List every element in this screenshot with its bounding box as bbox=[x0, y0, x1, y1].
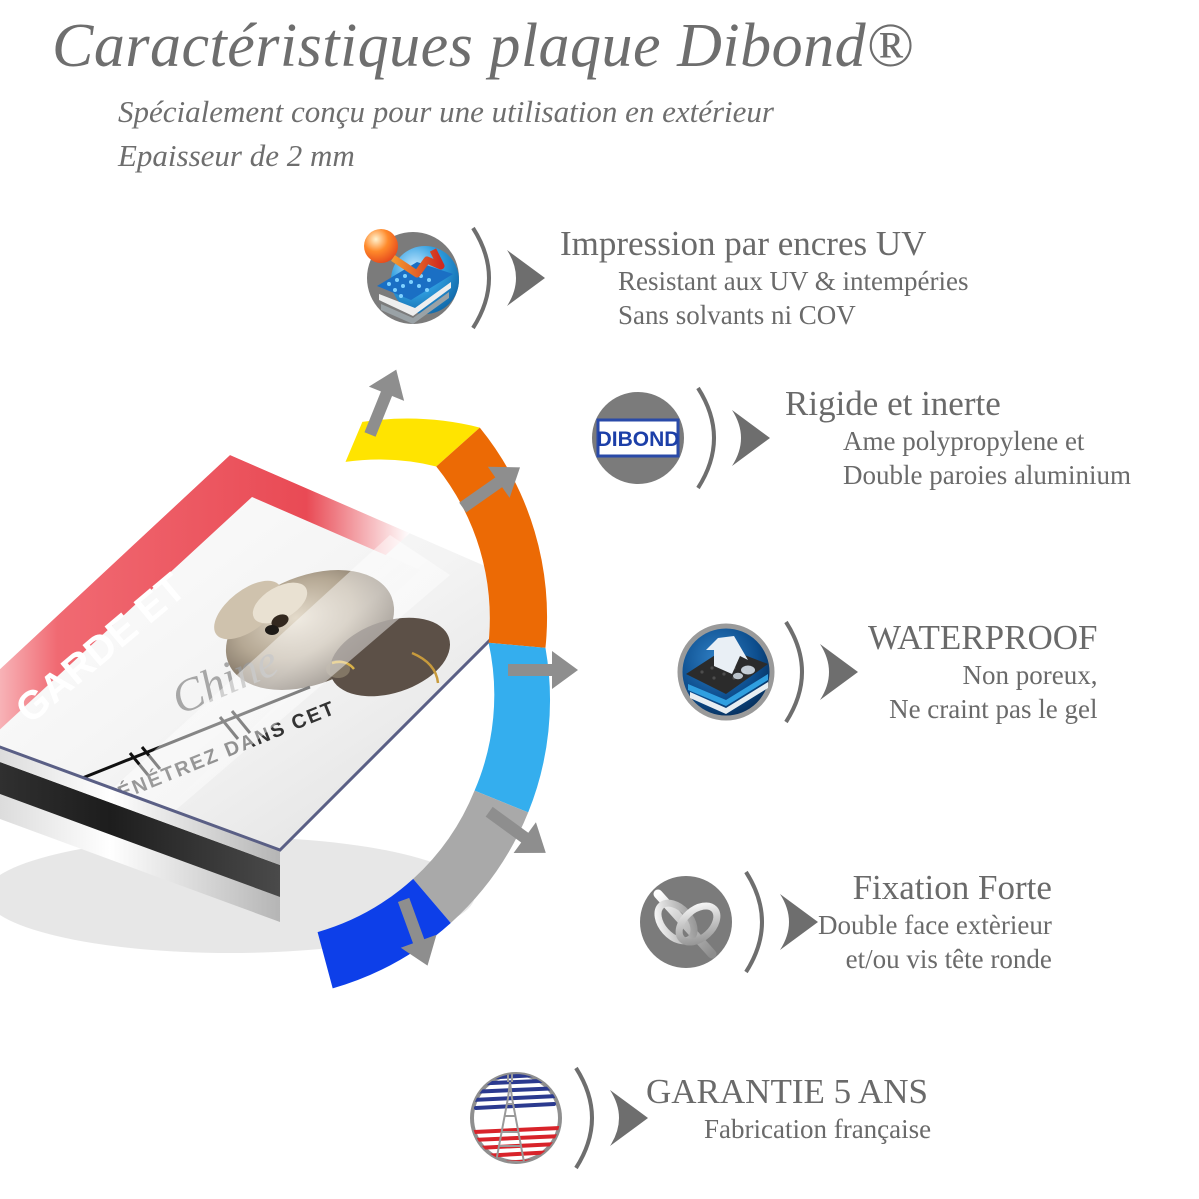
feature-line-1: Double face extèrieur bbox=[818, 908, 1052, 942]
french-flag-eiffel-icon bbox=[458, 1058, 578, 1178]
feature-line-1: Resistant aux UV & intempéries bbox=[560, 264, 968, 298]
feature-text: Fixation Forte Double face extèrieur et/… bbox=[818, 868, 1052, 976]
feature-text: WATERPROOF Non poreux, Ne craint pas le … bbox=[868, 618, 1097, 726]
arc-segment-orange bbox=[436, 428, 547, 648]
chevron-right-icon bbox=[816, 642, 860, 702]
subtitle-line-2: Epaisseur de 2 mm bbox=[118, 138, 355, 174]
feature-title: Impression par encres UV bbox=[560, 224, 968, 264]
feature-text: GARANTIE 5 ANS Fabrication française bbox=[646, 1072, 931, 1146]
page-title: Caractéristiques plaque Dibond® bbox=[52, 14, 1192, 78]
infographic-canvas: Caractéristiques plaque Dibond® Spéciale… bbox=[0, 0, 1199, 1199]
feature-title: Fixation Forte bbox=[818, 868, 1052, 908]
chevron-right-icon bbox=[728, 408, 772, 468]
feature-line-2: Ne craint pas le gel bbox=[868, 692, 1097, 726]
dibond-logo-icon: DIBOND bbox=[580, 378, 700, 498]
feature-line-2: et/ou vis tête ronde bbox=[818, 942, 1052, 976]
dibond-logo-text: DIBOND bbox=[597, 428, 680, 451]
uv-sun bbox=[364, 229, 398, 263]
chevron-right-icon bbox=[606, 1088, 650, 1148]
feature-title: Rigide et inerte bbox=[785, 384, 1131, 424]
arc-segments bbox=[318, 419, 550, 989]
feature-text: Rigide et inerte Ame polypropylene et Do… bbox=[785, 384, 1131, 492]
color-arc-wheel bbox=[270, 360, 610, 1040]
feature-line-2: Double paroies aluminium bbox=[785, 458, 1131, 492]
chevron-right-icon bbox=[503, 248, 547, 308]
feature-line-1: Fabrication française bbox=[646, 1112, 931, 1146]
subtitle-line-1: Spécialement conçu pour une utilisation … bbox=[118, 94, 774, 130]
feature-title: GARANTIE 5 ANS bbox=[646, 1072, 931, 1112]
water-droplet bbox=[741, 666, 755, 675]
feature-title: WATERPROOF bbox=[868, 618, 1097, 658]
water-droplet bbox=[733, 673, 743, 679]
feature-line-1: Non poreux, bbox=[868, 658, 1097, 692]
feature-line-2: Sans solvants ni COV bbox=[560, 298, 968, 332]
feature-line-1: Ame polypropylene et bbox=[785, 424, 1131, 458]
chevron-right-icon bbox=[776, 892, 820, 952]
chain-link-icon bbox=[628, 862, 748, 982]
waterproof-layers-icon bbox=[668, 612, 788, 732]
uv-print-icon bbox=[355, 218, 475, 338]
feature-text: Impression par encres UV Resistant aux U… bbox=[560, 224, 968, 332]
